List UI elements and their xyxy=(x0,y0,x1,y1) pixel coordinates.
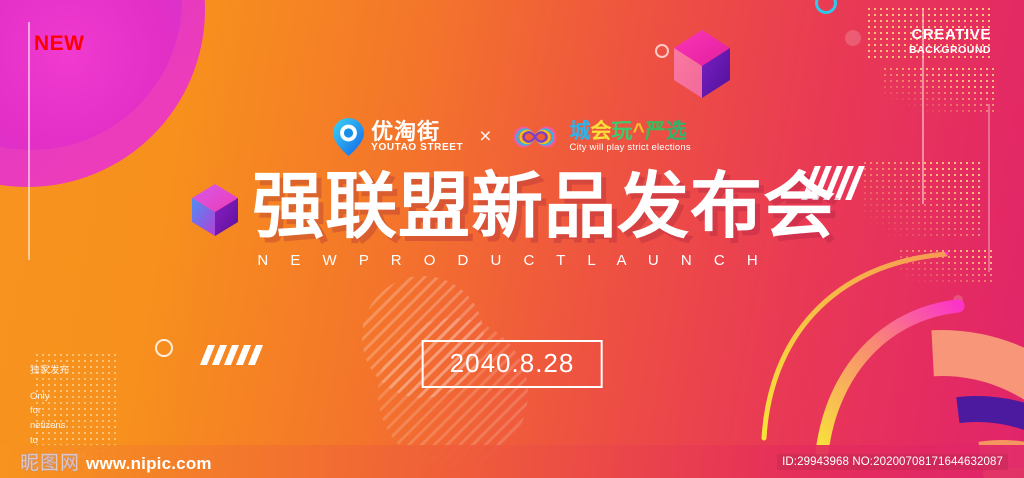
promo-banner: NEW CREATIVE BACKGROUND 优淘街 YOUTAO STREE… xyxy=(0,0,1024,478)
cube-3d-decoration-top xyxy=(668,22,748,106)
small-circle-outline-decoration-top xyxy=(655,44,669,58)
brand-b-text: 城会玩^严选 City will play strict elections xyxy=(570,121,691,153)
brand-b-char-3: 玩 xyxy=(612,120,633,143)
brand-logo-row: 优淘街 YOUTAO STREET × 城会玩^严选 City will pla… xyxy=(0,118,1024,156)
subtitle: N E W P R O D U C T L A U N C H xyxy=(0,252,1024,269)
brand-b-char-1: 城 xyxy=(570,120,591,143)
brand-logo-youtao-street: 优淘街 YOUTAO STREET xyxy=(333,118,463,156)
left-note-cn: 独家发布 xyxy=(30,364,92,379)
watermark-site-url[interactable]: www.nipic.com xyxy=(86,454,212,474)
left-note-en-1: Only xyxy=(30,390,92,405)
brand-logo-chenghuiwan: 城会玩^严选 City will play strict elections xyxy=(508,121,691,153)
brand-b-char-5: 严 xyxy=(645,120,666,143)
brand-b-char-6: 选 xyxy=(666,120,687,143)
watermark-site-name-cn: 昵图网 xyxy=(20,448,80,475)
infinity-icon xyxy=(508,122,562,152)
small-circle-outline-decoration xyxy=(155,339,173,357)
brand-b-char-4: ^ xyxy=(633,120,645,143)
creative-line-2: BACKGROUND xyxy=(909,44,991,56)
diagonal-slashes-decoration-middle xyxy=(204,345,259,365)
location-pin-icon xyxy=(333,118,364,156)
left-note-en-2: for xyxy=(30,404,92,419)
watermark-id-text: ID:29943968 NO:20200708171644632087 xyxy=(777,454,1008,470)
brand-a-name-cn: 优淘街 xyxy=(371,121,463,143)
brand-b-char-2: 会 xyxy=(591,120,612,143)
page-title: 强联盟新品发布会 xyxy=(252,170,836,242)
brand-b-name-en: City will play strict elections xyxy=(570,143,691,153)
left-note-en-3: netizens xyxy=(30,419,92,434)
cyan-ring-decoration xyxy=(815,0,837,14)
creative-line-1: CREATIVE xyxy=(909,26,991,44)
brand-separator: × xyxy=(479,125,491,149)
soft-dot-decoration-1 xyxy=(845,30,861,46)
magenta-circle-decoration xyxy=(0,0,205,187)
brand-a-name-en: YOUTAO STREET xyxy=(371,143,463,153)
watermark-site[interactable]: 昵图网 www.nipic.com xyxy=(20,448,212,475)
cube-3d-decoration-title xyxy=(188,178,244,240)
brand-b-name-cn: 城会玩^严选 xyxy=(570,121,691,143)
brand-a-text: 优淘街 YOUTAO STREET xyxy=(371,121,463,154)
watermark-bar: 昵图网 www.nipic.com ID:29943968 NO:2020070… xyxy=(0,445,1024,478)
creative-background-label: CREATIVE BACKGROUND xyxy=(909,26,991,56)
new-badge: NEW xyxy=(34,32,85,56)
halftone-dots-decoration-2 xyxy=(882,66,994,112)
event-date: 2040.8.28 xyxy=(422,340,603,388)
main-title-row: 强联盟新品发布会 xyxy=(0,170,1024,242)
